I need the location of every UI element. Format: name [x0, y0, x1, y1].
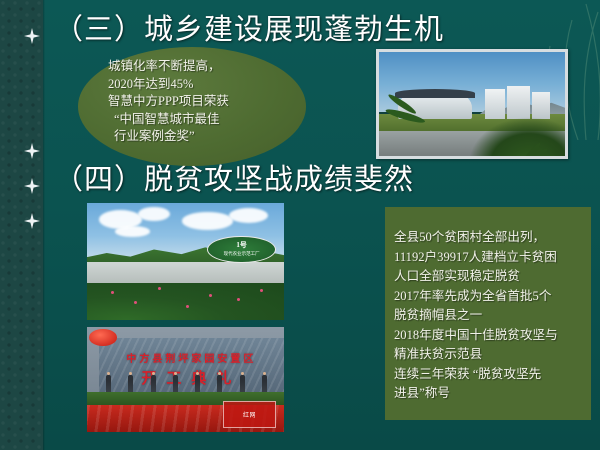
greenhouse-sign-line-1: 1号	[236, 241, 247, 249]
sparkle-bullet-icon-3	[24, 178, 40, 194]
ceremony-banner-line-1: 中方县荆坪家园安置区	[103, 350, 280, 365]
panel-line-7: 精准扶贫示范县	[394, 345, 590, 365]
greenhouse-sign-line-2: 现代农业示范工厂	[224, 251, 260, 256]
oval-line-1: 城镇化率不断提高，	[108, 58, 288, 76]
sparkle-bullet-icon-2	[24, 143, 40, 159]
oval-line-3: 智慧中方PPP项目荣获	[108, 93, 288, 111]
oval-line-2: 2020年达到45%	[108, 76, 288, 94]
watermark-text: 红网	[243, 410, 256, 419]
photo-city-construction	[376, 49, 568, 159]
photo-watermark-logo: 红网	[223, 401, 276, 428]
panel-line-5: 脱贫摘帽县之一	[394, 306, 590, 326]
photo-groundbreaking-ceremony: 中方县荆坪家园安置区 开工典礼 红网	[87, 327, 284, 432]
panel-line-9: 进县”称号	[394, 384, 590, 404]
left-band-edge	[43, 0, 45, 450]
section-heading-four: （四）脱贫攻坚战成绩斐然	[54, 166, 414, 195]
oval-callout-text: 城镇化率不断提高， 2020年达到45% 智慧中方PPP项目荣获 “中国智慧城市…	[108, 58, 288, 146]
panel-line-1: 全县50个贫困村全部出列，	[394, 228, 590, 248]
panel-line-2: 11192户39917人建档立卡贫困	[394, 248, 590, 268]
achievements-panel-text: 全县50个贫困村全部出列， 11192户39917人建档立卡贫困 人口全部实现稳…	[394, 228, 590, 404]
section-heading-three: （三）城乡建设展现蓬勃生机	[54, 16, 444, 45]
oval-line-4: “中国智慧城市最佳	[108, 111, 288, 129]
photo-greenhouse-farm: 1号 现代农业示范工厂	[87, 203, 284, 320]
panel-line-3: 人口全部实现稳定脱贫	[394, 267, 590, 287]
panel-line-6: 2018年度中国十佳脱贫攻坚与	[394, 326, 590, 346]
sparkle-bullet-icon-1	[24, 28, 40, 44]
oval-line-5: 行业案例金奖”	[108, 128, 288, 146]
panel-line-8: 连续三年荣获 “脱贫攻坚先	[394, 365, 590, 385]
sparkle-bullet-icon-4	[24, 213, 40, 229]
slide-canvas: （三）城乡建设展现蓬勃生机 （四）脱贫攻坚战成绩斐然 城镇化率不断提高， 202…	[0, 0, 600, 450]
panel-line-4: 2017年率先成为全省首批5个	[394, 287, 590, 307]
